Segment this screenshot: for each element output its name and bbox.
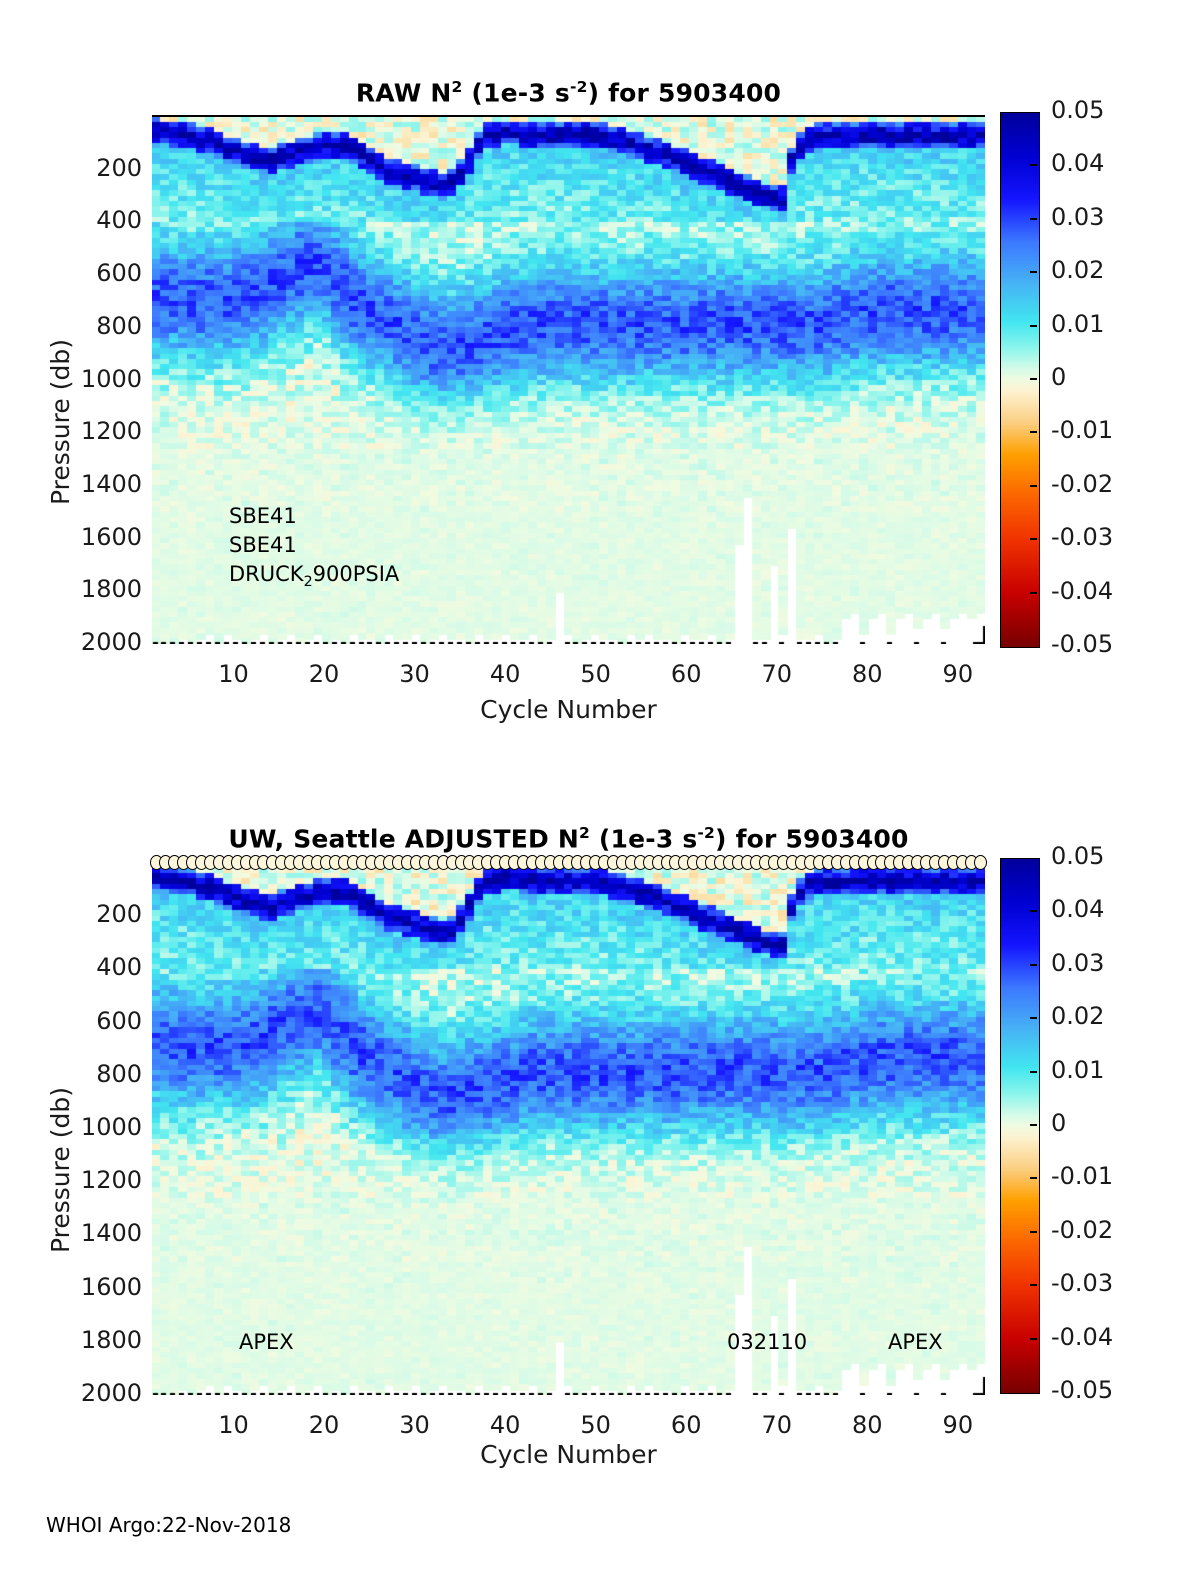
colorbar-tick-label: -0.01 <box>1051 416 1113 444</box>
colorbar-tick-label: 0.03 <box>1051 203 1104 231</box>
x-tick-label: 30 <box>375 660 455 688</box>
y-tick-label: 2000 <box>24 1379 142 1407</box>
x-tick-label: 50 <box>556 660 636 688</box>
x-tick-label: 60 <box>646 1411 726 1439</box>
annotation-sensor-ctd-1: SBE41 <box>229 504 297 528</box>
colorbar-gradient-adjusted <box>1001 859 1039 1393</box>
y-tick-label: 1800 <box>24 1326 142 1354</box>
colorbar-tick-label: 0.01 <box>1051 1056 1104 1084</box>
colorbar-tick-label: 0.04 <box>1051 149 1104 177</box>
annotation-wmo-inst-code: 032110 <box>727 1330 807 1354</box>
x-tick-label: 30 <box>375 1411 455 1439</box>
panel-adjusted-title: UW, Seattle ADJUSTED N2 (1e-3 s-2) for 5… <box>152 824 985 853</box>
x-tick-label: 80 <box>827 660 907 688</box>
x-tick-label: 40 <box>465 1411 545 1439</box>
colorbar-tick-mark <box>1030 218 1037 220</box>
colorbar-tick-mark <box>1030 1177 1037 1179</box>
colorbar-adjusted[interactable] <box>1000 858 1040 1394</box>
panel-adjusted-title-sup2: -2 <box>697 824 715 842</box>
colorbar-tick-label: -0.01 <box>1051 1162 1113 1190</box>
x-tick-label: 40 <box>465 660 545 688</box>
y-tick-label: 1400 <box>24 470 142 498</box>
y-tick-label: 1200 <box>24 417 142 445</box>
x-tick-label: 90 <box>918 1411 998 1439</box>
colorbar-tick-mark <box>1030 964 1037 966</box>
panel-raw-title-mid: (1e-3 s <box>463 78 570 107</box>
colorbar-tick-mark <box>1030 1338 1037 1340</box>
colorbar-tick-label: 0.02 <box>1051 256 1104 284</box>
y-tick-label: 600 <box>24 1007 142 1035</box>
colorbar-tick-mark <box>1030 164 1037 166</box>
panel-adjusted-title-mid: (1e-3 s <box>590 824 697 853</box>
colorbar-tick-label: -0.05 <box>1051 1376 1113 1404</box>
colorbar-tick-mark <box>1030 1284 1037 1286</box>
y-tick-label: 1800 <box>24 575 142 603</box>
colorbar-tick-mark <box>1030 910 1037 912</box>
colorbar-raw[interactable] <box>1000 112 1040 648</box>
annotation-platform-type-right: APEX <box>888 1330 943 1354</box>
colorbar-tick-mark <box>1030 1124 1037 1126</box>
colorbar-tick-mark <box>1030 1231 1037 1233</box>
colorbar-tick-label: -0.02 <box>1051 1216 1113 1244</box>
colorbar-tick-label: -0.04 <box>1051 577 1113 605</box>
x-tick-label: 10 <box>193 1411 273 1439</box>
y-tick-label: 2000 <box>24 628 142 656</box>
panel-raw-title-sup2: -2 <box>570 78 588 96</box>
colorbar-tick-label: 0.05 <box>1051 96 1104 124</box>
colorbar-tick-label: 0.03 <box>1051 949 1104 977</box>
colorbar-tick-label: 0.01 <box>1051 310 1104 338</box>
panel-raw-title-main: RAW N <box>356 78 452 107</box>
colorbar-tick-label: 0.02 <box>1051 1002 1104 1030</box>
panel-raw-title-end: ) for 5903400 <box>588 78 782 107</box>
colorbar-tick-mark <box>1030 538 1037 540</box>
colorbar-tick-label: 0 <box>1051 1109 1066 1137</box>
colorbar-tick-label: 0.04 <box>1051 895 1104 923</box>
colorbar-tick-mark <box>1030 431 1037 433</box>
colorbar-tick-label: 0.05 <box>1051 842 1104 870</box>
colorbar-tick-mark <box>1030 378 1037 380</box>
colorbar-tick-mark <box>1030 485 1037 487</box>
colorbar-tick-label: -0.03 <box>1051 1269 1113 1297</box>
y-tick-label: 400 <box>24 953 142 981</box>
y-tick-label: 200 <box>24 154 142 182</box>
y-axis-label-raw: Pressure (db) <box>46 339 75 505</box>
colorbar-gradient-raw <box>1001 113 1039 647</box>
x-tick-label: 50 <box>556 1411 636 1439</box>
colorbar-tick-label: -0.04 <box>1051 1323 1113 1351</box>
x-tick-label: 90 <box>918 660 998 688</box>
colorbar-tick-mark <box>1030 592 1037 594</box>
colorbar-tick-mark <box>1030 1071 1037 1073</box>
annotation-sensor-ctd-2: SBE41 <box>229 533 297 557</box>
y-tick-label: 1200 <box>24 1166 142 1194</box>
cycle-marker[interactable] <box>974 855 987 870</box>
y-tick-label: 800 <box>24 1060 142 1088</box>
colorbar-tick-label: -0.03 <box>1051 523 1113 551</box>
colorbar-tick-label: -0.05 <box>1051 630 1113 658</box>
y-tick-label: 200 <box>24 900 142 928</box>
y-tick-label: 1600 <box>24 523 142 551</box>
y-tick-label: 1400 <box>24 1219 142 1247</box>
panel-raw-title: RAW N2 (1e-3 s-2) for 5903400 <box>152 78 985 107</box>
y-tick-label: 800 <box>24 312 142 340</box>
axes-top-spine-raw <box>152 115 985 117</box>
y-tick-label: 1000 <box>24 365 142 393</box>
x-tick-label: 20 <box>284 1411 364 1439</box>
annotation-sensor-pressure-sub: 2 <box>304 574 313 590</box>
colorbar-tick-label: -0.02 <box>1051 470 1113 498</box>
panel-adjusted-title-end: ) for 5903400 <box>715 824 909 853</box>
x-axis-label-raw: Cycle Number <box>152 695 985 724</box>
panel-adjusted-title-sup1: 2 <box>579 824 590 842</box>
colorbar-tick-mark <box>1030 1017 1037 1019</box>
x-tick-label: 20 <box>284 660 364 688</box>
panel-adjusted-title-main: UW, Seattle ADJUSTED N <box>228 824 579 853</box>
annotation-sensor-pressure-post: 900PSIA <box>313 562 400 586</box>
heatmap-canvas-adjusted <box>152 863 985 1395</box>
cycle-marker-row[interactable] <box>152 855 985 873</box>
y-tick-label: 1000 <box>24 1113 142 1141</box>
annotation-sensor-pressure-pre: DRUCK <box>229 562 304 586</box>
y-tick-label: 600 <box>24 259 142 287</box>
y-tick-label: 400 <box>24 206 142 234</box>
x-axis-label-adjusted: Cycle Number <box>152 1440 985 1469</box>
colorbar-tick-label: 0 <box>1051 363 1066 391</box>
y-tick-label: 1600 <box>24 1273 142 1301</box>
colorbar-tick-mark <box>1030 325 1037 327</box>
annotation-platform-type-left: APEX <box>239 1330 294 1354</box>
x-tick-label: 70 <box>737 1411 817 1439</box>
plot-area-adjusted[interactable] <box>152 863 985 1395</box>
annotation-sensor-pressure: DRUCK2900PSIA <box>229 562 399 590</box>
x-tick-label: 70 <box>737 660 817 688</box>
panel-raw-title-sup1: 2 <box>452 78 463 96</box>
footer-credit: WHOI Argo:22-Nov-2018 <box>46 1513 291 1537</box>
x-tick-label: 80 <box>827 1411 907 1439</box>
colorbar-tick-mark <box>1030 271 1037 273</box>
x-tick-label: 60 <box>646 660 726 688</box>
y-axis-label-adjusted: Pressure (db) <box>46 1087 75 1253</box>
x-tick-label: 10 <box>193 660 273 688</box>
